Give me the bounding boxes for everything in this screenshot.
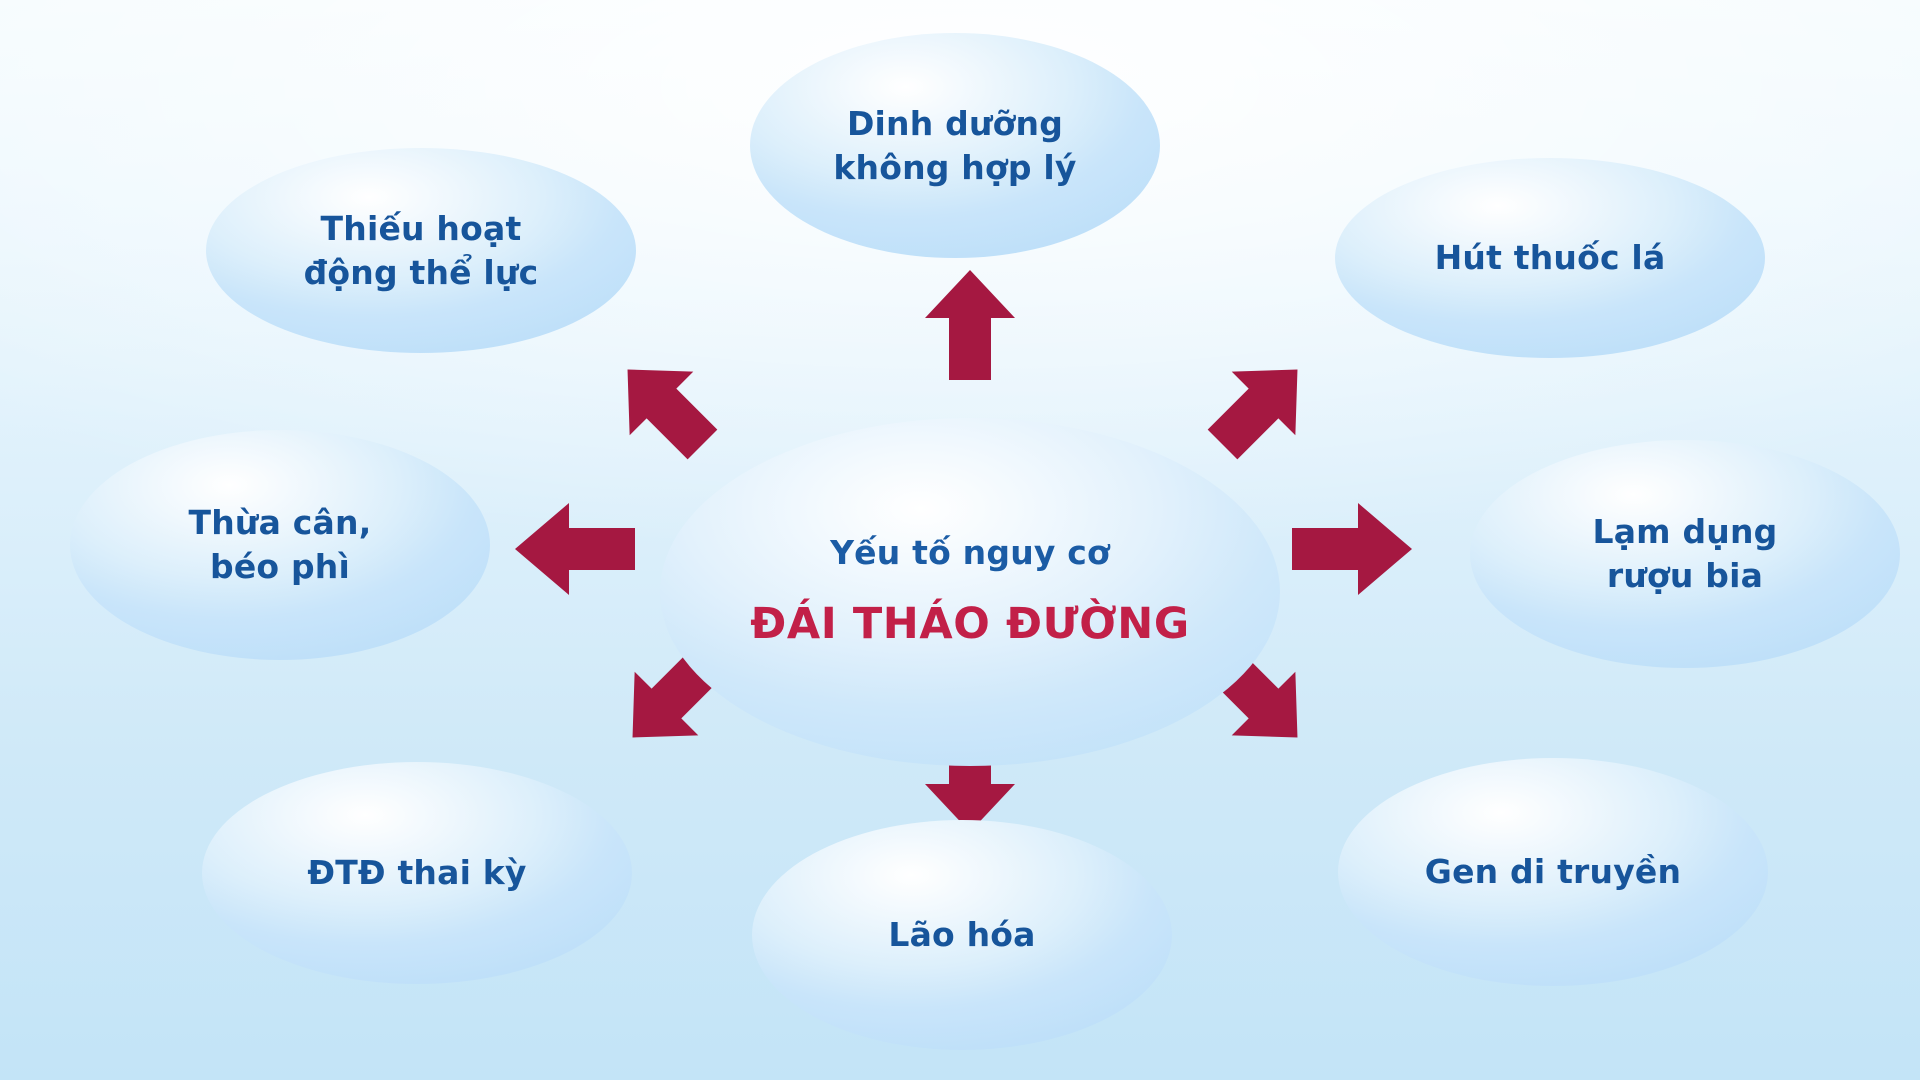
node-label-lines: Lạm dụng rượu bia: [1470, 510, 1900, 597]
node-label-lines: Lão hóa: [752, 913, 1172, 957]
node-label-line-1: Thừa cân,: [78, 501, 482, 545]
node-dinh-duong-khong-hop-ly[interactable]: Dinh dưỡng không hợp lý: [750, 33, 1160, 258]
node-label-lines: ĐTĐ thai kỳ: [202, 851, 632, 895]
infographic-canvas: Yếu tố nguy cơ ĐÁI THÁO ĐƯỜNG Dinh dưỡng…: [0, 0, 1920, 1080]
node-label-lines: Dinh dưỡng không hợp lý: [750, 102, 1160, 189]
node-label-line-1: Lạm dụng: [1478, 510, 1892, 554]
node-label-line-2: béo phì: [78, 545, 482, 589]
node-thieu-hoat-dong-the-luc[interactable]: Thiếu hoạt động thể lực: [206, 148, 636, 353]
node-label-line-1: Hút thuốc lá: [1343, 236, 1757, 280]
node-lam-dung-ruou-bia[interactable]: Lạm dụng rượu bia: [1470, 440, 1900, 668]
node-label-line-1: Thiếu hoạt: [214, 207, 628, 251]
center-node-title: ĐÁI THÁO ĐƯỜNG: [668, 596, 1272, 653]
node-label-line-2: không hợp lý: [758, 146, 1152, 190]
arrow-up-icon: [925, 270, 1015, 380]
node-label-line-2: rượu bia: [1478, 554, 1892, 598]
node-label-line-1: Gen di truyền: [1346, 850, 1760, 894]
node-label-lines: Hút thuốc lá: [1335, 236, 1765, 280]
center-node-subtitle: Yếu tố nguy cơ: [668, 531, 1272, 575]
node-label-lines: Thiếu hoạt động thể lực: [206, 207, 636, 294]
node-label-lines: Thừa cân, béo phì: [70, 501, 490, 588]
node-gen-di-truyen[interactable]: Gen di truyền: [1338, 758, 1768, 986]
node-label-line-1: Lão hóa: [760, 913, 1164, 957]
node-label-lines: Gen di truyền: [1338, 850, 1768, 894]
node-hut-thuoc-la[interactable]: Hút thuốc lá: [1335, 158, 1765, 358]
node-dtd-thai-ky[interactable]: ĐTĐ thai kỳ: [202, 762, 632, 984]
center-node-lines: Yếu tố nguy cơ ĐÁI THÁO ĐƯỜNG: [660, 531, 1280, 653]
arrow-up-left-icon: [610, 352, 720, 462]
node-lao-hoa[interactable]: Lão hóa: [752, 820, 1172, 1050]
node-thua-can-beo-phi[interactable]: Thừa cân, béo phì: [70, 430, 490, 660]
node-label-line-2: động thể lực: [214, 251, 628, 295]
arrow-right-icon: [1292, 503, 1412, 595]
node-label-line-1: Dinh dưỡng: [758, 102, 1152, 146]
center-node-dai-thao-duong[interactable]: Yếu tố nguy cơ ĐÁI THÁO ĐƯỜNG: [660, 418, 1280, 766]
arrow-up-right-icon: [1205, 352, 1315, 462]
node-label-line-1: ĐTĐ thai kỳ: [210, 851, 624, 895]
arrow-left-icon: [515, 503, 635, 595]
